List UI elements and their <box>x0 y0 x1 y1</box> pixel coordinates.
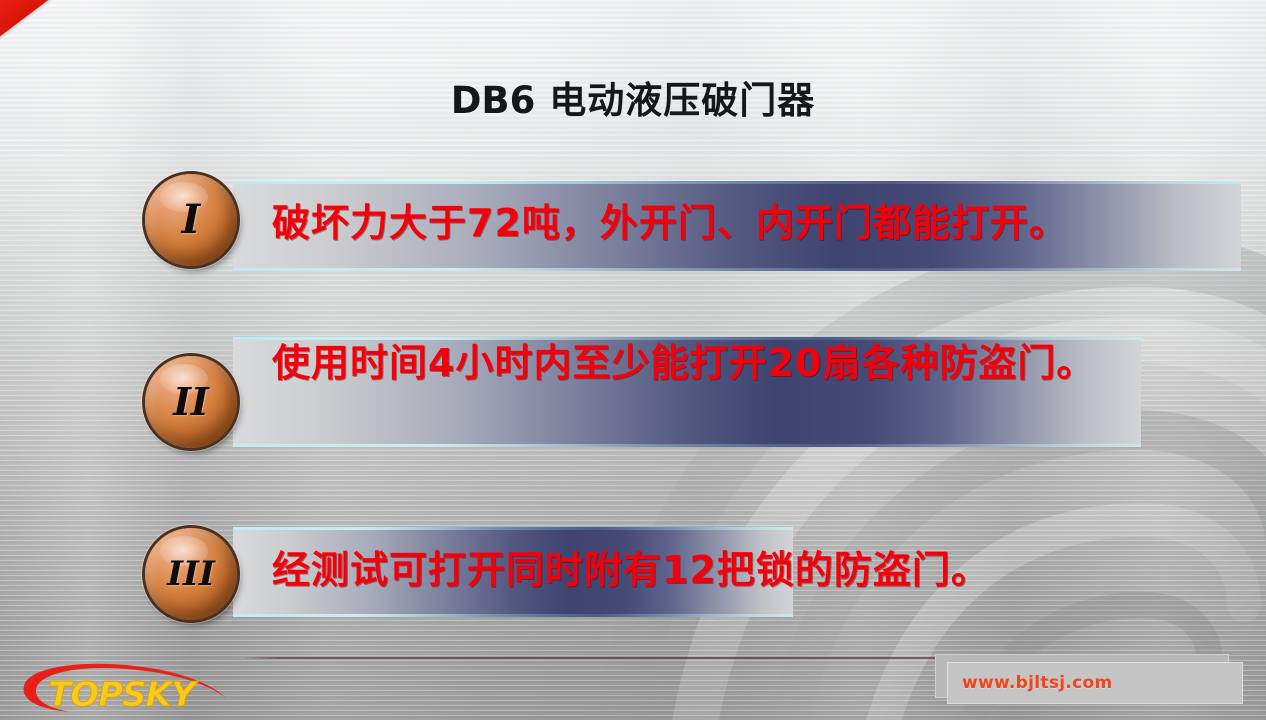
bullet-badge-numeral-3: III <box>167 557 215 591</box>
page-title-text: 电动液压破门器 <box>549 79 815 122</box>
website-url-box-front: www.bjltsj.com <box>947 662 1243 704</box>
website-url-text: www.bjltsj.com <box>962 673 1113 693</box>
bullet-badge-1: I <box>145 174 237 266</box>
page-title-model: DB6 <box>451 79 536 122</box>
page-title: DB6 电动液压破门器 <box>0 70 1266 124</box>
bullet-text-2: 使用时间4小时内至少能打开20扇各种防盗门。 <box>272 338 1232 388</box>
topsky-logo: TOPSKY <box>18 660 234 716</box>
svg-text:TOPSKY: TOPSKY <box>48 675 199 715</box>
corner-ribbon-label: 反恐处突 <box>0 0 209 60</box>
page-title-space <box>535 79 549 122</box>
bullet-badge-numeral-1: I <box>182 200 201 240</box>
bullet-badge-2: II <box>145 356 237 448</box>
slide-canvas: 反恐处突 DB6 电动液压破门器 破坏力大于72吨，外开门、内开门都能打开。 I… <box>0 0 1266 720</box>
corner-ribbon-band: 反恐处突 <box>0 0 209 60</box>
bullet-text-3: 经测试可打开同时附有12把锁的防盗门。 <box>272 545 1222 595</box>
bullet-badge-numeral-2: II <box>173 383 209 421</box>
bullet-badge-3: III <box>145 528 237 620</box>
bullet-text-1: 破坏力大于72吨，外开门、内开门都能打开。 <box>272 198 1222 248</box>
website-url-box[interactable]: www.bjltsj.com <box>935 654 1247 704</box>
